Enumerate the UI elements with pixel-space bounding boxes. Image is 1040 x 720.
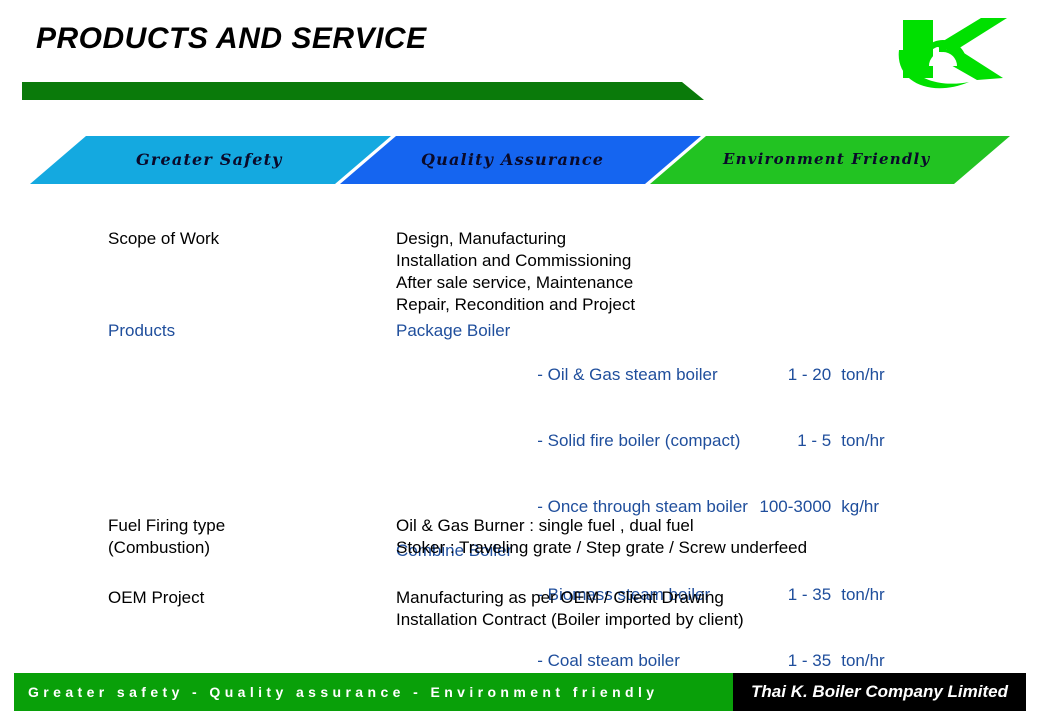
- product-spec-row: - Solid fire boiler (compact)1 - 5ton/hr: [396, 408, 927, 474]
- section-label-products: Products: [108, 320, 175, 342]
- section-fuel-firing-type: Fuel Firing type (Combustion) Oil & Gas …: [0, 515, 1040, 575]
- page-title: PRODUCTS AND SERVICE: [36, 22, 427, 56]
- banner-label-environment-friendly: Environment Friendly: [723, 150, 930, 168]
- section-value-oem-project: Manufacturing as per OEM / Client Drawin…: [396, 587, 744, 631]
- product-unit: ton/hr: [831, 430, 884, 452]
- product-name: - Oil & Gas steam boiler: [537, 364, 745, 386]
- product-capacity: 1 - 5: [745, 430, 831, 452]
- footer-slogan: Greater safety - Quality assurance - Env…: [14, 673, 733, 711]
- product-spec-row: - Oil & Gas steam boiler1 - 20ton/hr: [396, 342, 927, 408]
- footer-company-name: Thai K. Boiler Company Limited: [733, 673, 1026, 711]
- footer-bar: Greater safety - Quality assurance - Env…: [14, 673, 1026, 711]
- value-line: Design, Manufacturing: [396, 228, 635, 250]
- section-oem-project: OEM Project Manufacturing as per OEM / C…: [0, 575, 1040, 635]
- logo-gear-tooth-2: [939, 44, 946, 52]
- value-line: Stoker : Traveling grate / Step grate / …: [396, 537, 807, 559]
- banner-label-greater-safety: Greater Safety: [136, 150, 283, 169]
- section-value-fuel-firing-type: Oil & Gas Burner : single fuel , dual fu…: [396, 515, 807, 559]
- section-scope-of-work: Scope of Work Design, Manufacturing Inst…: [0, 220, 1040, 320]
- product-name: - Solid fire boiler (compact): [537, 430, 745, 452]
- section-label-line: Fuel Firing type: [108, 515, 225, 537]
- product-capacity: up to 6 million: [727, 716, 863, 720]
- section-value-scope-of-work: Design, Manufacturing Installation and C…: [396, 228, 635, 316]
- value-line: Manufacturing as per OEM / Client Drawin…: [396, 587, 744, 609]
- company-logo: [895, 6, 1017, 92]
- logo-gear-tooth-3: [953, 50, 960, 58]
- title-underline-bar: [22, 82, 704, 102]
- product-name: - Coal hot oil heater: [537, 716, 727, 720]
- value-line: Installation Contract (Boiler imported b…: [396, 609, 744, 631]
- product-unit: kCal/hr: [863, 716, 927, 720]
- section-products: Products Package Boiler - Oil & Gas stea…: [0, 320, 1040, 515]
- value-line: Oil & Gas Burner : single fuel , dual fu…: [396, 515, 807, 537]
- product-unit: ton/hr: [831, 364, 884, 386]
- slide-canvas: PRODUCTS AND SERVICE: [0, 0, 1040, 720]
- section-label-sub: (Combustion): [108, 537, 225, 559]
- product-capacity: 1 - 35: [745, 650, 831, 672]
- product-unit: ton/hr: [831, 650, 884, 672]
- product-name: - Coal steam boiler: [537, 650, 745, 672]
- value-line: Installation and Commissioning: [396, 250, 635, 272]
- section-label-scope-of-work: Scope of Work: [108, 228, 219, 250]
- product-capacity: 1 - 20: [745, 364, 831, 386]
- section-label-fuel-firing-type: Fuel Firing type (Combustion): [108, 515, 225, 559]
- product-group-heading: Package Boiler: [396, 320, 927, 342]
- title-underline-shape: [22, 82, 704, 100]
- value-line: Repair, Recondition and Project: [396, 294, 635, 316]
- value-line: After sale service, Maintenance: [396, 272, 635, 294]
- content-body: Scope of Work Design, Manufacturing Inst…: [0, 220, 1040, 635]
- banner-label-quality-assurance: Quality Assurance: [421, 150, 604, 169]
- section-label-oem-project: OEM Project: [108, 587, 204, 609]
- logo-gear-tooth-1: [925, 50, 932, 58]
